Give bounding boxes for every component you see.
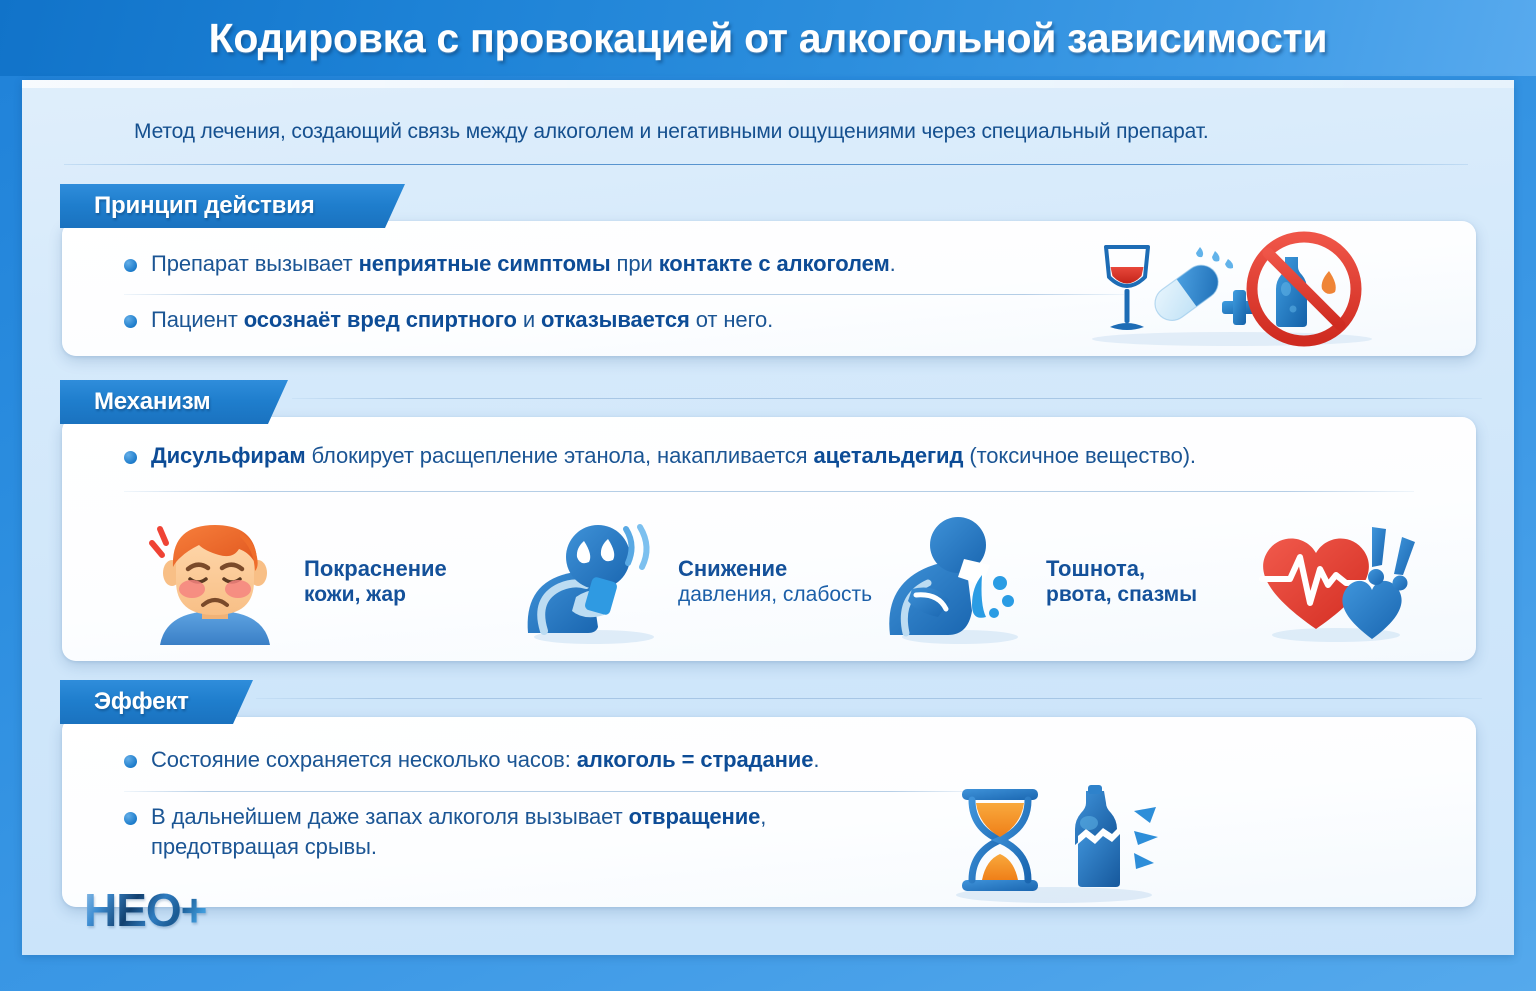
- section-tab-effect: Эффект: [60, 680, 253, 724]
- tab-trail-rule-effect: [256, 698, 1482, 699]
- bullet-divider: [124, 294, 1124, 295]
- weak-person-sweating-icon: [514, 513, 664, 650]
- bullet-dot-icon: [124, 755, 137, 768]
- infographic-poster: Кодировка с провокацией от алкогольной з…: [0, 0, 1536, 991]
- section-tab-label: Механизм: [94, 388, 210, 416]
- bullet-text: Препарат вызывает неприятные симптомы пр…: [151, 249, 896, 279]
- symptom-flushed-skin: Покраснение кожи, жар: [140, 513, 447, 650]
- tab-trail-rule-mechanism: [292, 398, 1482, 399]
- content-panel: Метод лечения, создающий связь между алк…: [22, 80, 1514, 955]
- bullet-divider: [124, 491, 1414, 492]
- symptom-line-1: Тошнота,: [1046, 555, 1197, 583]
- page-title: Кодировка с провокацией от алкогольной з…: [209, 15, 1328, 62]
- section-tab-mechanism: Механизм: [60, 380, 288, 424]
- symptom-label: Покраснение кожи, жар: [304, 555, 447, 609]
- symptom-heart-alert: [1250, 513, 1428, 650]
- heart-pulse-alert-icon: [1250, 513, 1428, 650]
- symptom-low-pressure: Снижение давления, слабость: [514, 513, 872, 650]
- symptom-line-1: Снижение: [678, 555, 872, 583]
- bullet-text: Пациент осознаёт вред спиртного и отказы…: [151, 305, 773, 335]
- symptom-line-2: рвота, спазмы: [1046, 582, 1197, 608]
- bullet-text: Состояние сохраняется несколько часов: а…: [151, 745, 819, 775]
- wine-glass-pill-plus-no-bottle-icon: [1082, 229, 1382, 354]
- vomiting-person-icon: [882, 513, 1032, 650]
- card-principle: Препарат вызывает неприятные симптомы пр…: [62, 221, 1476, 356]
- section-tab-principle: Принцип действия: [60, 184, 405, 228]
- symptom-line-2: давления, слабость: [678, 582, 872, 608]
- symptom-line-1: Покраснение: [304, 555, 447, 583]
- brand-logo: НЕО+: [84, 883, 207, 937]
- bullet-mechanism-1: Дисульфирам блокирует расщепление этанол…: [124, 441, 1414, 471]
- panel-top-highlight: [22, 80, 1514, 88]
- symptom-line-2: кожи, жар: [304, 582, 447, 608]
- section-tab-label: Принцип действия: [94, 192, 315, 220]
- bullet-effect-2: В дальнейшем даже запах алкоголя вызывае…: [124, 802, 974, 863]
- card-effect: Состояние сохраняется несколько часов: а…: [62, 717, 1476, 907]
- bullet-text: В дальнейшем даже запах алкоголя вызывае…: [151, 802, 766, 863]
- bullet-principle-1: Препарат вызывает неприятные симптомы пр…: [124, 249, 1054, 279]
- symptom-label: Тошнота, рвота, спазмы: [1046, 555, 1197, 609]
- bullet-principle-2: Пациент осознаёт вред спиртного и отказы…: [124, 305, 1054, 335]
- bullet-dot-icon: [124, 315, 137, 328]
- symptom-nausea: Тошнота, рвота, спазмы: [882, 513, 1197, 650]
- hourglass-broken-bottle-icon: [942, 779, 1172, 908]
- bullet-dot-icon: [124, 259, 137, 272]
- symptom-label: Снижение давления, слабость: [678, 555, 872, 609]
- intro-divider: [64, 164, 1468, 165]
- intro-text: Метод лечения, создающий связь между алк…: [134, 120, 1434, 144]
- section-tab-label: Эффект: [94, 688, 189, 716]
- bullet-effect-1: Состояние сохраняется несколько часов: а…: [124, 745, 1004, 775]
- header-banner: Кодировка с провокацией от алкогольной з…: [0, 0, 1536, 76]
- bullet-dot-icon: [124, 812, 137, 825]
- flushed-face-icon: [140, 513, 290, 650]
- bullet-divider: [124, 791, 974, 792]
- bullet-text: Дисульфирам блокирует расщепление этанол…: [151, 441, 1196, 471]
- card-mechanism: Дисульфирам блокирует расщепление этанол…: [62, 417, 1476, 661]
- bullet-dot-icon: [124, 451, 137, 464]
